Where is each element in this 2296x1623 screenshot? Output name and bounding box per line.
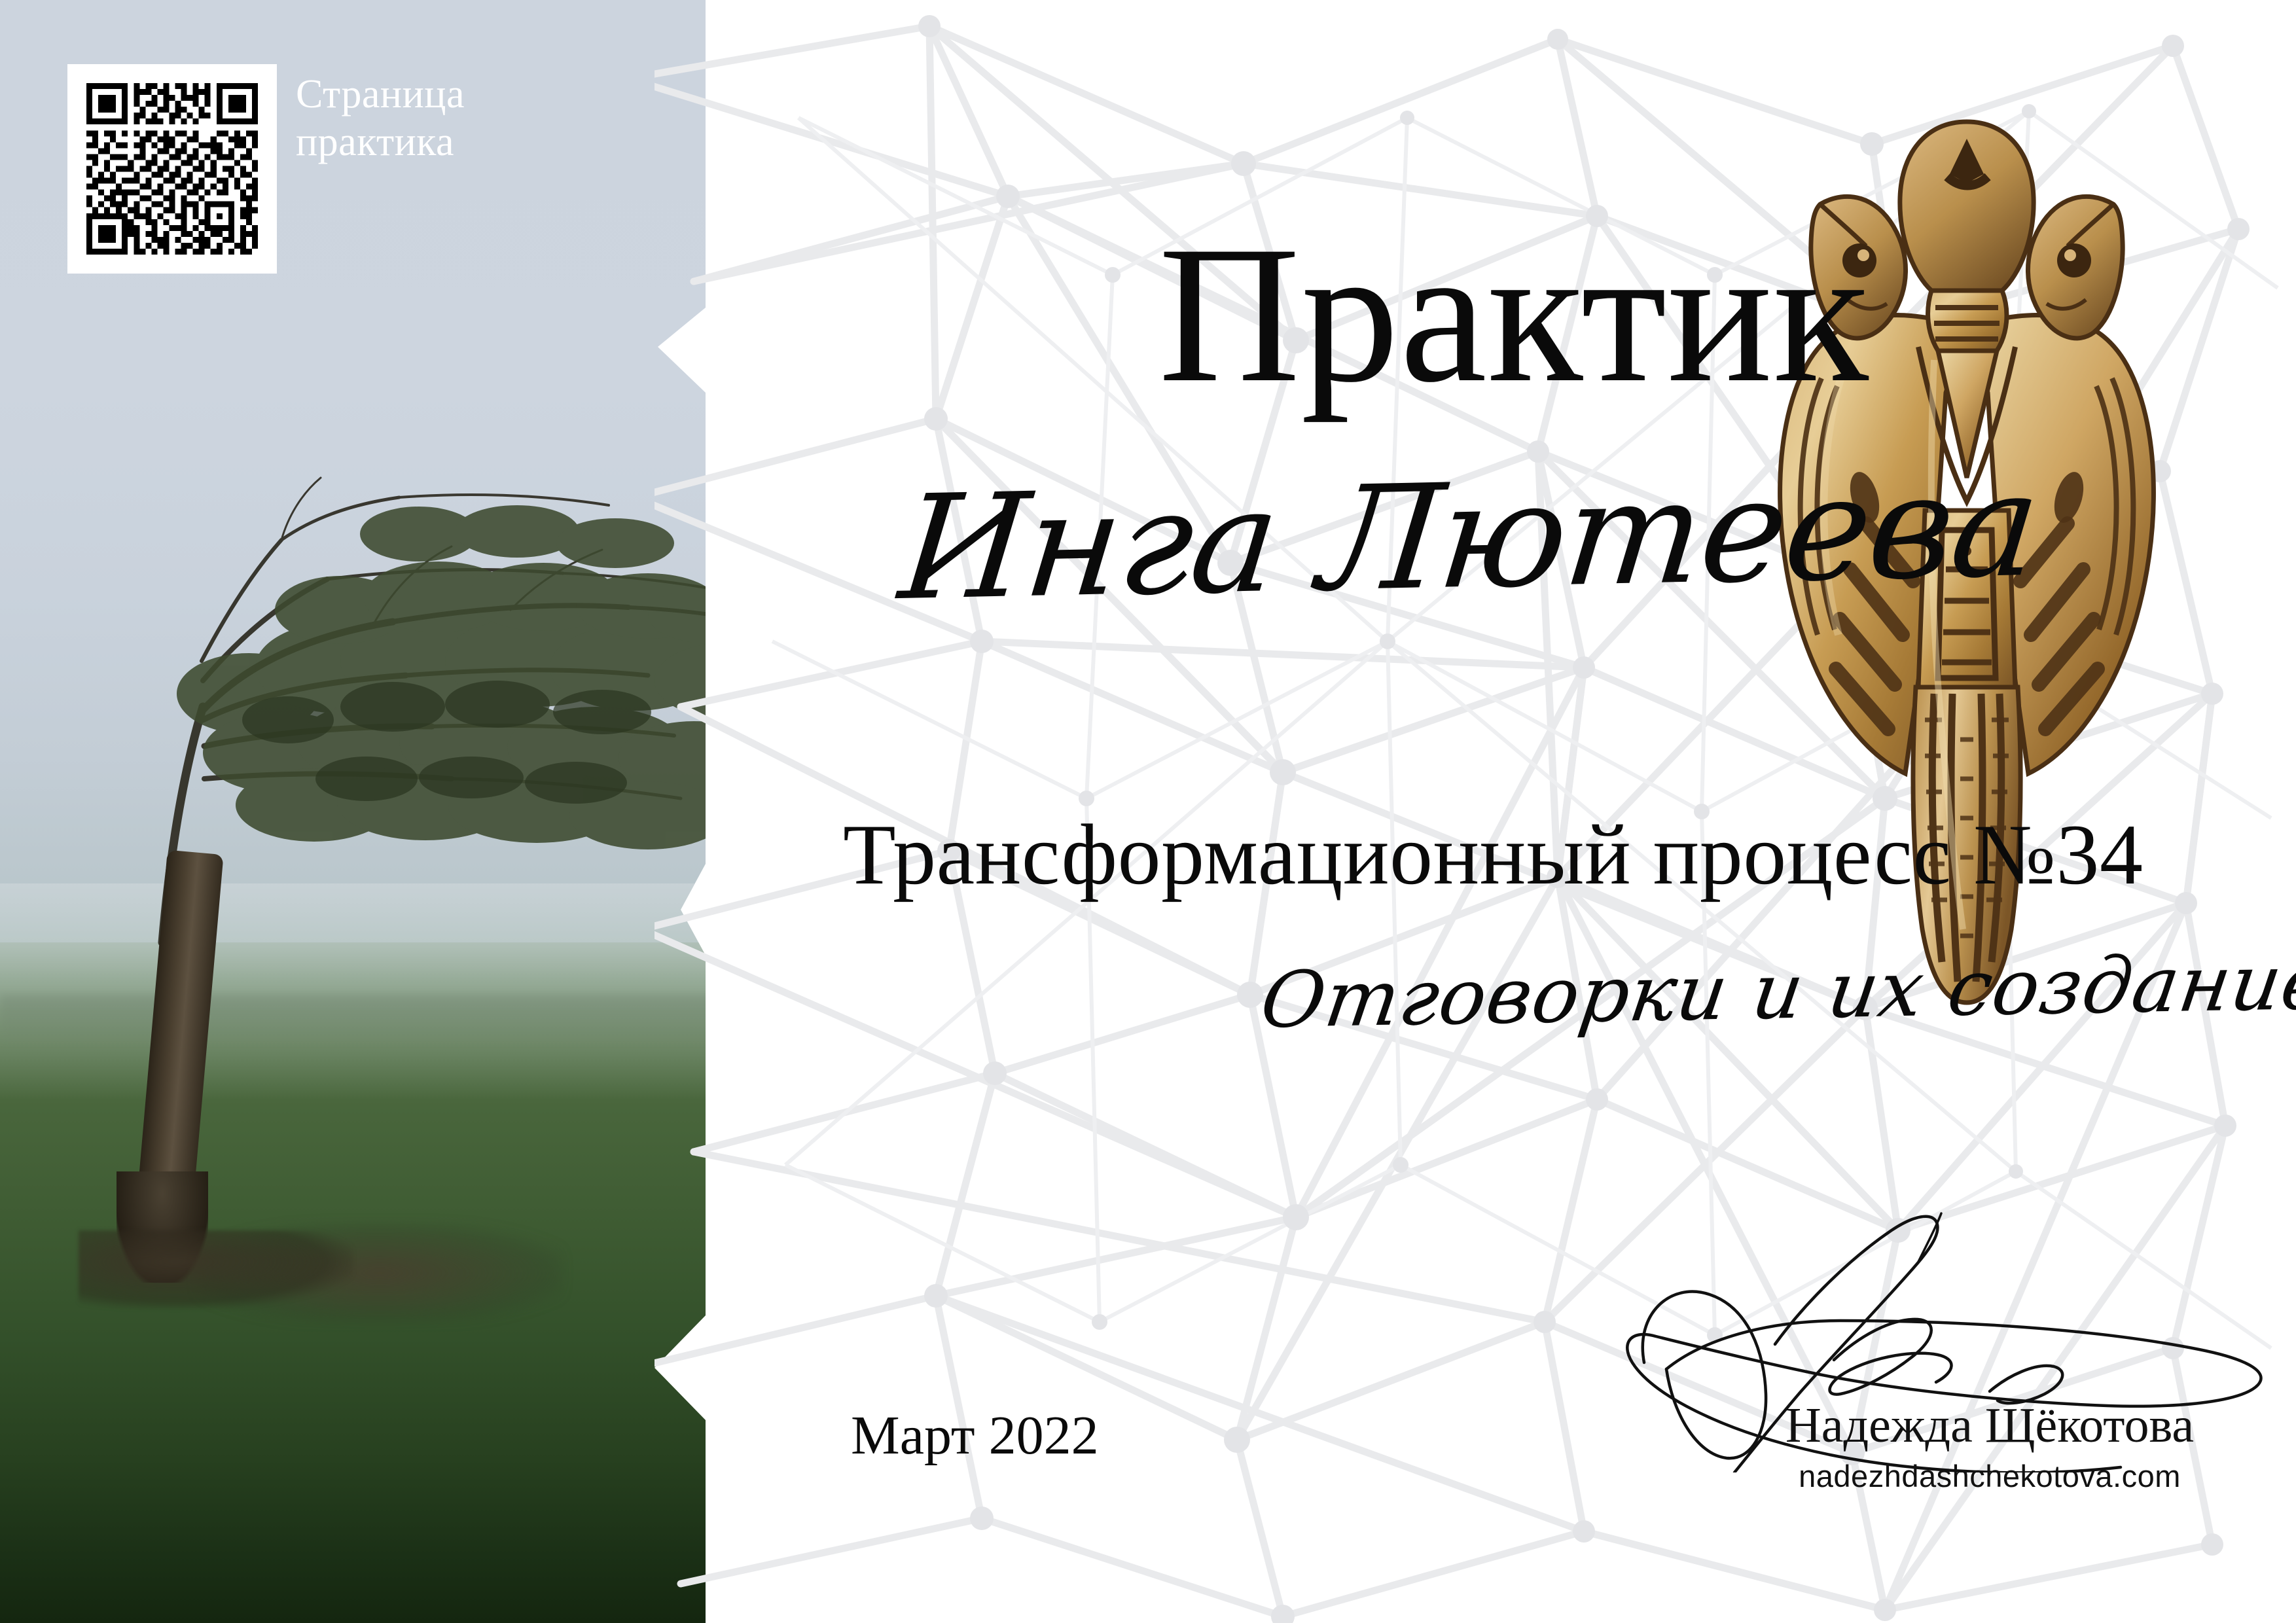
signatory-url[interactable]: nadezhdashchekotova.com: [1741, 1461, 2238, 1491]
qr-code-label-line-1: Страница: [296, 71, 571, 118]
process-subtitle: Отговорки и их создание: [1257, 943, 2296, 1039]
qr-code-label: Страница практика: [296, 71, 571, 166]
process-line: Трансформационный процесс №34: [843, 811, 2143, 898]
page-title: Практик: [1158, 216, 1869, 412]
qr-code-badge[interactable]: [67, 64, 277, 274]
recipient-name: Инга Лютеева: [895, 453, 2045, 620]
qr-code-label-line-2: практика: [296, 118, 571, 166]
tree-canopy-icon: [0, 353, 746, 982]
certificate-page: Страница практика: [0, 0, 2296, 1623]
qr-code-icon: [86, 83, 258, 255]
issue-date: Март 2022: [851, 1408, 1099, 1463]
signatory-name: Надежда Щёкотова: [1741, 1400, 2238, 1450]
tree-roots: [79, 1230, 353, 1309]
